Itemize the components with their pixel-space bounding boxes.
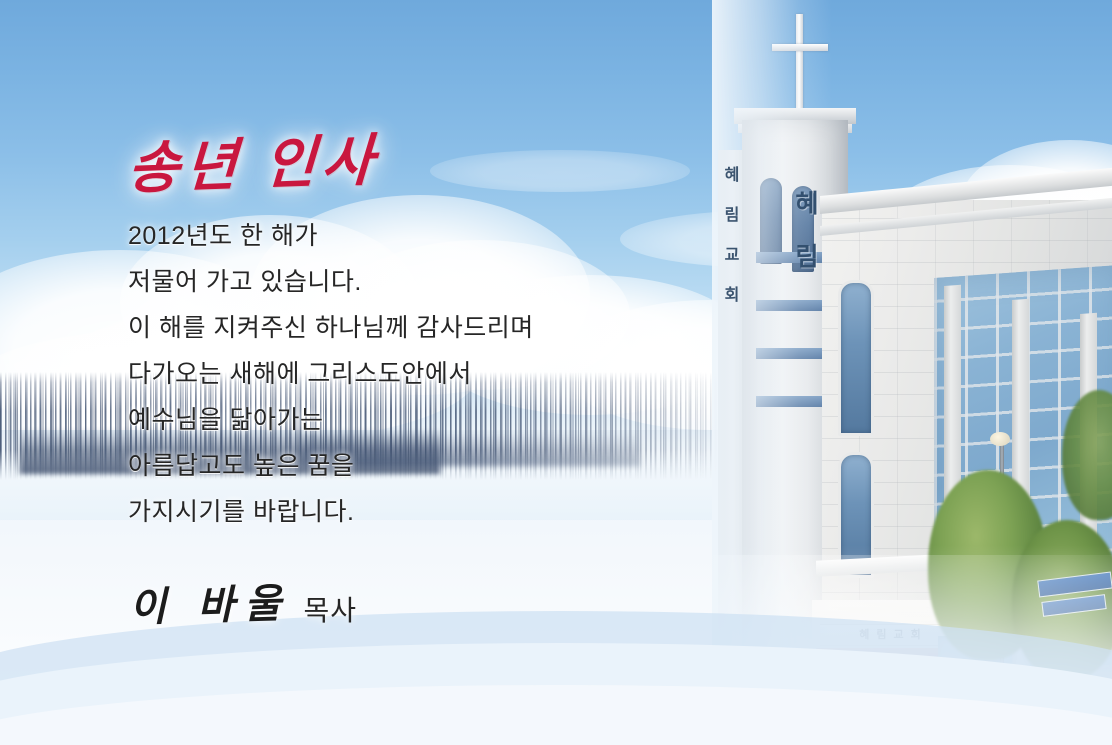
greeting-body: 2012년도 한 해가 저물어 가고 있습니다. 이 해를 지켜주신 하나님께 … <box>128 224 688 546</box>
cross-icon-bar <box>772 44 828 51</box>
gothic-arch-window-1 <box>838 280 874 436</box>
entrance-sign-char-1: 혜 <box>859 630 869 641</box>
greeting-line: 예수님을 닮아가는 <box>128 408 688 433</box>
parked-van-2 <box>1012 686 1112 742</box>
greeting-line: 이 해를 지켜주신 하나님께 감사드리며 <box>128 316 688 341</box>
entrance-sign-char-2: 림 <box>876 630 886 641</box>
entrance-awning <box>816 648 942 661</box>
signature-role: 목사 <box>304 597 358 628</box>
greeting-title: 송년 인사 <box>126 115 382 205</box>
church-photo: 혜 림 혜 림 교 회 혜 림 교 회 <box>712 0 1112 745</box>
entrance-sign-char-4: 회 <box>911 630 921 641</box>
greeting-line: 저물어 가고 있습니다. <box>128 270 688 295</box>
year-end-greeting-card: 혜 림 혜 림 교 회 혜 림 교 회 <box>0 0 1112 745</box>
van-window <box>834 688 870 710</box>
tower-window-band-2 <box>756 300 822 311</box>
van-window <box>1066 696 1098 715</box>
tower-side-char-1: 혜 <box>725 168 740 184</box>
tower-side-sign: 혜 림 교 회 <box>721 168 743 304</box>
parked-van-1 <box>772 678 922 740</box>
tower-sign-char-1: 혜 <box>795 192 818 217</box>
tower-window-band-4 <box>756 396 822 407</box>
van-window <box>876 689 906 709</box>
entrance-sign-char-3: 교 <box>894 630 904 641</box>
tower-name-sign: 혜 림 <box>790 192 824 270</box>
tower-side-char-3: 교 <box>725 248 740 264</box>
greeting-line: 2012년도 한 해가 <box>128 224 688 249</box>
tower-sign-char-2: 림 <box>795 245 818 270</box>
greeting-line: 다가오는 새해에 그리스도안에서 <box>128 362 688 387</box>
signature-name: 이 바울 <box>129 584 292 628</box>
tower-window-band-3 <box>756 348 822 359</box>
tower-side-char-4: 회 <box>725 288 740 304</box>
van-window <box>1026 696 1060 715</box>
tower-side-char-2: 림 <box>725 208 740 224</box>
van-window <box>788 688 828 710</box>
greeting-line: 아름답고도 높은 꿈을 <box>128 454 688 479</box>
cross-icon <box>796 14 803 110</box>
greeting-line: 가지시기를 바랍니다. <box>128 500 688 525</box>
street-light-lamp <box>990 432 1010 446</box>
signature: 이 바울 목사 <box>130 588 357 628</box>
